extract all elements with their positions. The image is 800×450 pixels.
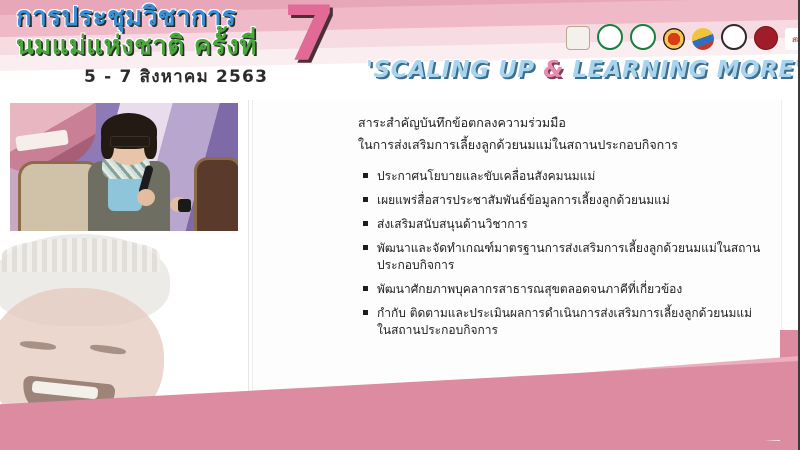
list-item: พัฒนาและจัดทำเกณฑ์มาตรฐานการส่งเสริมการเ… — [363, 240, 763, 274]
logo-red-crest — [754, 26, 778, 50]
presenter-remote — [178, 199, 191, 212]
content-heading-line1: สาระสำคัญบันทึกข้อตกลงความร่วมมือ — [358, 112, 768, 134]
logo-royal-emblem — [566, 26, 590, 50]
baby-hat-brim — [2, 238, 160, 272]
content-heading: สาระสำคัญบันทึกข้อตกลงความร่วมมือ ในการส… — [358, 112, 768, 155]
conference-title-line1: การประชุมวิชาการ — [16, 4, 316, 30]
tagline-part1: 'SCALING UP — [366, 57, 543, 83]
conference-date: 5 - 7 สิงหาคม 2563 — [84, 63, 268, 90]
logo-ministry-public-health-1 — [597, 24, 623, 50]
chair-right — [194, 157, 238, 231]
tagline-ampersand: & — [543, 57, 564, 83]
list-item: กำกับ ติดตามและประเมินผลการดำเนินการส่งเ… — [363, 305, 763, 339]
column-divider — [248, 100, 249, 422]
sponsor-logo-strip: สสส — [566, 24, 800, 50]
speaker-hand-left — [137, 189, 155, 206]
list-item: พัฒนาศักยภาพบุคลากรสาธารณสุขตลอดจนภาคีที… — [363, 281, 763, 298]
conference-title: การประชุมวิชาการ นมแม่แห่งชาติ ครั้งที่ — [16, 4, 316, 59]
list-item: เผยแพร่สื่อสารประชาสัมพันธ์ข้อมูลการเลี้… — [363, 192, 763, 209]
content-heading-line2: ในการส่งเสริมการเลี้ยงลูกด้วยนมแม่ในสถาน… — [358, 134, 768, 156]
conference-title-line2: นมแม่แห่งชาติ ครั้งที่ — [16, 33, 316, 59]
logo-garuda-crest — [692, 28, 714, 50]
list-item: ประกาศนโยบายและขับเคลื่อนสังคมนมแม่ — [363, 168, 763, 185]
list-item: ส่งเสริมสนับสนุนด้านวิชาการ — [363, 216, 763, 233]
slide-header-banner: การประชุมวิชาการ นมแม่แห่งชาติ ครั้งที่ … — [0, 0, 800, 96]
logo-thai-crest-orange — [663, 28, 685, 50]
footer-strip — [0, 441, 800, 450]
content-bullet-list: ประกาศนโยบายและขับเคลื่อนสังคมนมแม่ เผยแ… — [363, 168, 763, 346]
slide-body: สาระสำคัญบันทึกข้อตกลงความร่วมมือ ในการส… — [0, 96, 800, 450]
presentation-slide: การประชุมวิชาการ นมแม่แห่งชาติ ครั้งที่ … — [0, 0, 800, 450]
logo-thaihealth-sss: สสส — [785, 28, 800, 50]
edition-number: 7 — [283, 0, 336, 72]
logo-ministry-public-health-2 — [630, 24, 656, 50]
conference-tagline: 'SCALING UP & LEARNING MORE' — [366, 57, 800, 83]
logo-black-circle-emblem — [721, 24, 747, 50]
tagline-part2: LEARNING MORE' — [564, 57, 800, 83]
speaker-video-thumbnail[interactable] — [10, 103, 238, 231]
speaker-glasses — [110, 136, 150, 147]
